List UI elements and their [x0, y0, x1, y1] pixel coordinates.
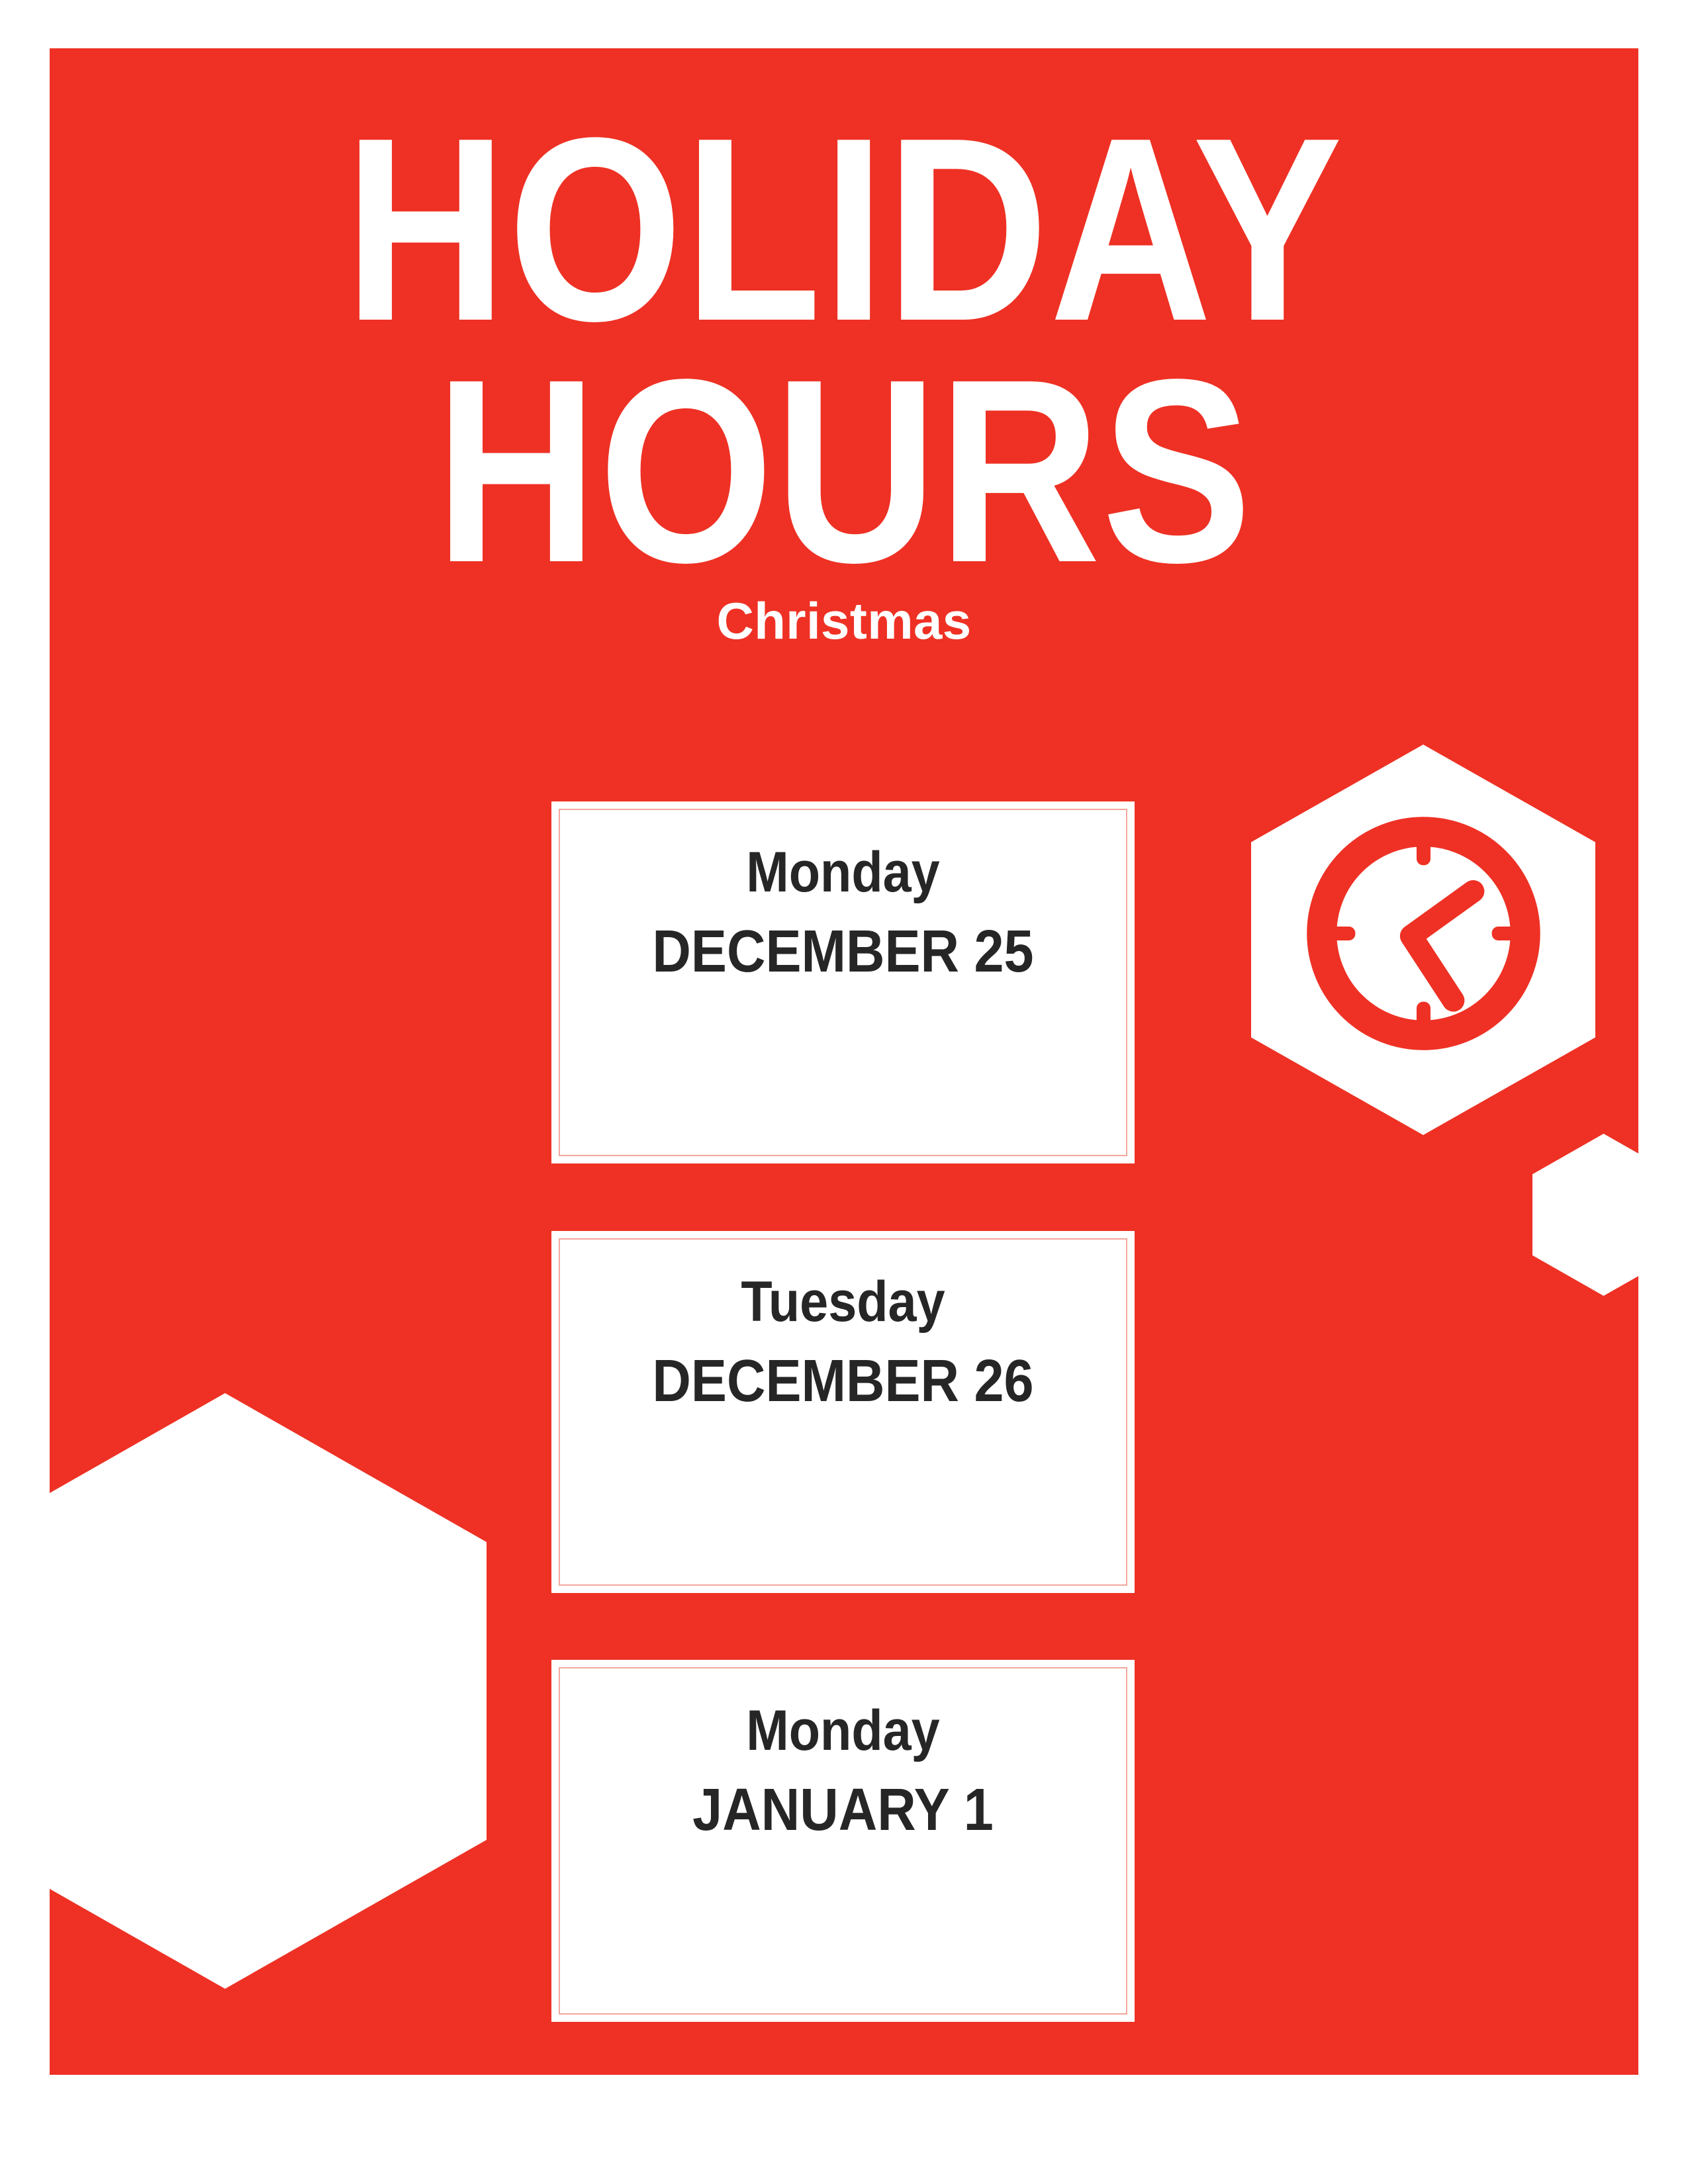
date-card-text: Tuesday DECEMBER 26 [551, 1272, 1135, 1413]
date-card: Tuesday DECEMBER 26 [551, 1231, 1135, 1593]
hexagon-decor-right [1532, 1134, 1638, 1296]
date-card-date: DECEMBER 25 [581, 921, 1105, 983]
date-card-weekday: Tuesday [581, 1272, 1105, 1332]
date-card-weekday: Monday [581, 842, 1105, 902]
holiday-hours-poster: HOLIDAY HOURS Christmas Monday DECEMBER … [0, 0, 1688, 2184]
date-card-text: Monday JANUARY 1 [551, 1701, 1135, 1842]
date-card: Monday JANUARY 1 [551, 1660, 1135, 2022]
date-card: Monday DECEMBER 25 [551, 801, 1135, 1163]
red-background-panel: HOLIDAY HOURS Christmas Monday DECEMBER … [50, 48, 1638, 2075]
clock-icon [1299, 809, 1548, 1058]
poster-title: HOLIDAY HOURS [50, 48, 1638, 592]
date-card-date: JANUARY 1 [581, 1779, 1105, 1842]
poster-subtitle: Christmas [50, 591, 1638, 651]
hexagon-decor-bottom-left [50, 1393, 487, 1989]
date-card-date: DECEMBER 26 [581, 1350, 1105, 1413]
title-line-holiday: HOLIDAY [161, 109, 1527, 349]
date-card-weekday: Monday [581, 1701, 1105, 1760]
title-line-hours: HOURS [161, 351, 1527, 591]
date-card-text: Monday DECEMBER 25 [551, 842, 1135, 983]
